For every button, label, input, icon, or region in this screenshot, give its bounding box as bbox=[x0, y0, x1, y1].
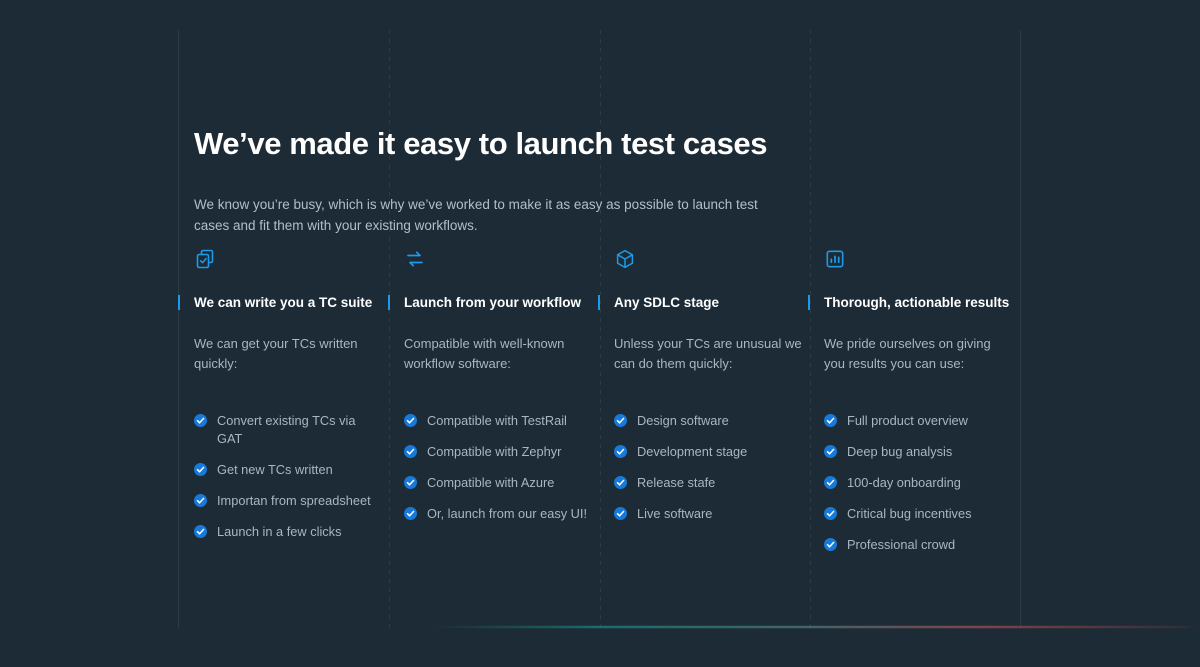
list-item-label: 100-day onboarding bbox=[847, 474, 961, 492]
list-item: 100-day onboarding bbox=[824, 474, 1012, 492]
cube-icon bbox=[614, 248, 802, 270]
check-circle-icon bbox=[824, 445, 837, 458]
accent-bar bbox=[598, 295, 600, 310]
feature-title: Thorough, actionable results bbox=[824, 294, 1012, 311]
bar-chart-icon bbox=[824, 248, 1012, 270]
check-circle-icon bbox=[824, 476, 837, 489]
list-item: Professional crowd bbox=[824, 536, 1012, 554]
feature-column: Thorough, actionable results We pride ou… bbox=[824, 248, 1034, 567]
feature-bullet-list: Full product overview Deep bug analysis … bbox=[824, 412, 1012, 554]
check-circle-icon bbox=[404, 507, 417, 520]
check-circle-icon bbox=[614, 414, 627, 427]
list-item: Compatible with Azure bbox=[404, 474, 592, 492]
feature-description: Compatible with well-known workflow soft… bbox=[404, 334, 592, 394]
feature-description: We pride ourselves on giving you results… bbox=[824, 334, 1012, 394]
feature-heading: We can write you a TC suite bbox=[194, 294, 382, 311]
list-item-label: Deep bug analysis bbox=[847, 443, 952, 461]
feature-title: We can write you a TC suite bbox=[194, 294, 382, 311]
list-item-label: Critical bug incentives bbox=[847, 505, 971, 523]
exchange-arrows-icon bbox=[404, 248, 592, 270]
feature-bullet-list: Design software Development stage Releas… bbox=[614, 412, 802, 523]
feature-column: Launch from your workflow Compatible wit… bbox=[404, 248, 614, 567]
list-item: Or, launch from our easy UI! bbox=[404, 505, 592, 523]
list-item: Deep bug analysis bbox=[824, 443, 1012, 461]
list-item-label: Get new TCs written bbox=[217, 461, 333, 479]
list-item-label: Launch in a few clicks bbox=[217, 523, 341, 541]
list-item: Launch in a few clicks bbox=[194, 523, 382, 541]
list-item: Live software bbox=[614, 505, 802, 523]
list-item-label: Release stafe bbox=[637, 474, 715, 492]
list-item: Convert existing TCs via GAT bbox=[194, 412, 382, 448]
list-item: Design software bbox=[614, 412, 802, 430]
list-item-label: Convert existing TCs via GAT bbox=[217, 412, 382, 448]
check-circle-icon bbox=[194, 414, 207, 427]
check-circle-icon bbox=[404, 445, 417, 458]
list-item: Compatible with Zephyr bbox=[404, 443, 592, 461]
page-subtitle: We know you’re busy, which is why we’ve … bbox=[194, 194, 794, 236]
feature-title: Launch from your workflow bbox=[404, 294, 592, 311]
check-circle-icon bbox=[194, 463, 207, 476]
grid-line-left bbox=[178, 30, 179, 628]
feature-title: Any SDLC stage bbox=[614, 294, 802, 311]
list-item-label: Design software bbox=[637, 412, 729, 430]
list-item-label: Full product overview bbox=[847, 412, 968, 430]
check-circle-icon bbox=[404, 476, 417, 489]
check-circle-icon bbox=[404, 414, 417, 427]
list-item-label: Compatible with TestRail bbox=[427, 412, 567, 430]
list-item: Get new TCs written bbox=[194, 461, 382, 479]
feature-description: We can get your TCs written quickly: bbox=[194, 334, 382, 394]
feature-heading: Thorough, actionable results bbox=[824, 294, 1012, 311]
feature-heading: Launch from your workflow bbox=[404, 294, 592, 311]
accent-bar bbox=[808, 295, 810, 310]
list-item-label: Live software bbox=[637, 505, 712, 523]
list-item: Importan from spreadsheet bbox=[194, 492, 382, 510]
copy-check-icon bbox=[194, 248, 382, 270]
feature-column: We can write you a TC suite We can get y… bbox=[194, 248, 404, 567]
bottom-gradient-rule bbox=[430, 626, 1200, 628]
list-item-label: Importan from spreadsheet bbox=[217, 492, 371, 510]
page-title: We’ve made it easy to launch test cases bbox=[194, 126, 767, 162]
list-item: Compatible with TestRail bbox=[404, 412, 592, 430]
list-item-label: Compatible with Azure bbox=[427, 474, 554, 492]
check-circle-icon bbox=[824, 414, 837, 427]
list-item: Development stage bbox=[614, 443, 802, 461]
accent-bar bbox=[178, 295, 180, 310]
feature-columns: We can write you a TC suite We can get y… bbox=[194, 248, 1034, 567]
feature-bullet-list: Convert existing TCs via GAT Get new TCs… bbox=[194, 412, 382, 541]
list-item: Full product overview bbox=[824, 412, 1012, 430]
feature-description: Unless your TCs are unusual we can do th… bbox=[614, 334, 802, 394]
feature-column: Any SDLC stage Unless your TCs are unusu… bbox=[614, 248, 824, 567]
check-circle-icon bbox=[614, 445, 627, 458]
feature-bullet-list: Compatible with TestRail Compatible with… bbox=[404, 412, 592, 523]
check-circle-icon bbox=[824, 538, 837, 551]
check-circle-icon bbox=[614, 507, 627, 520]
check-circle-icon bbox=[824, 507, 837, 520]
check-circle-icon bbox=[194, 494, 207, 507]
list-item: Critical bug incentives bbox=[824, 505, 1012, 523]
check-circle-icon bbox=[614, 476, 627, 489]
list-item-label: Or, launch from our easy UI! bbox=[427, 505, 587, 523]
list-item: Release stafe bbox=[614, 474, 802, 492]
feature-heading: Any SDLC stage bbox=[614, 294, 802, 311]
list-item-label: Compatible with Zephyr bbox=[427, 443, 561, 461]
list-item-label: Professional crowd bbox=[847, 536, 955, 554]
check-circle-icon bbox=[194, 525, 207, 538]
list-item-label: Development stage bbox=[637, 443, 747, 461]
accent-bar bbox=[388, 295, 390, 310]
